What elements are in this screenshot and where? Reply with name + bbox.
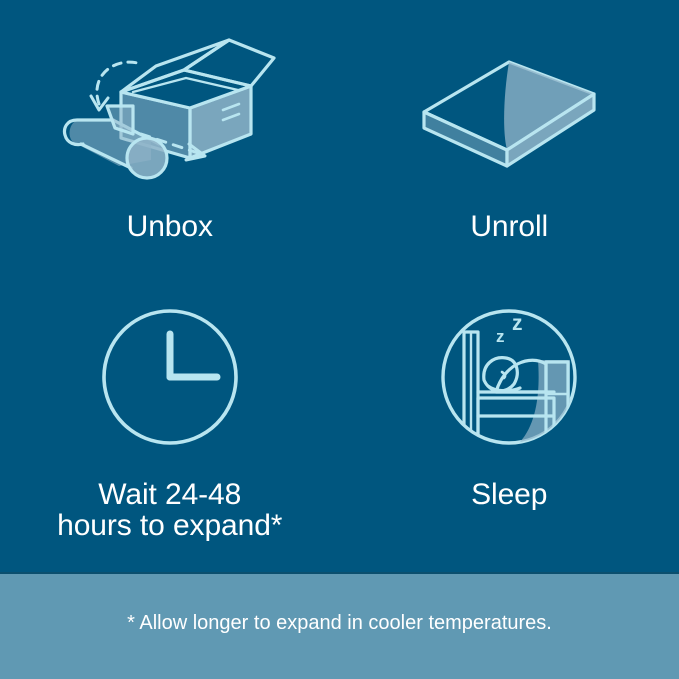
person-sleeping-in-bed-icon: z z <box>434 302 584 457</box>
step-sleep-label: Sleep <box>471 479 547 510</box>
step-wait: Wait 24-48 hours to expand* <box>0 286 340 572</box>
footer-note: * Allow longer to expand in cooler tempe… <box>127 612 552 635</box>
step-wait-label: Wait 24-48 hours to expand* <box>57 479 282 541</box>
step-unroll-label: Unroll <box>470 211 548 242</box>
step-unbox-label: Unbox <box>127 211 213 242</box>
step-sleep: z z Sleep <box>340 286 679 572</box>
clock-icon <box>95 302 245 457</box>
steps-grid: Unbox Unroll <box>0 0 679 572</box>
flat-mattress-icon <box>394 34 624 189</box>
mattress-setup-infographic: Unbox Unroll <box>0 0 679 679</box>
footer-band: * Allow longer to expand in cooler tempe… <box>0 572 679 679</box>
step-unbox: Unbox <box>0 0 340 286</box>
step-unroll: Unroll <box>340 0 679 286</box>
open-box-with-rolled-mattress-icon <box>55 34 285 189</box>
svg-text:z: z <box>496 327 505 346</box>
svg-text:z: z <box>512 312 523 335</box>
